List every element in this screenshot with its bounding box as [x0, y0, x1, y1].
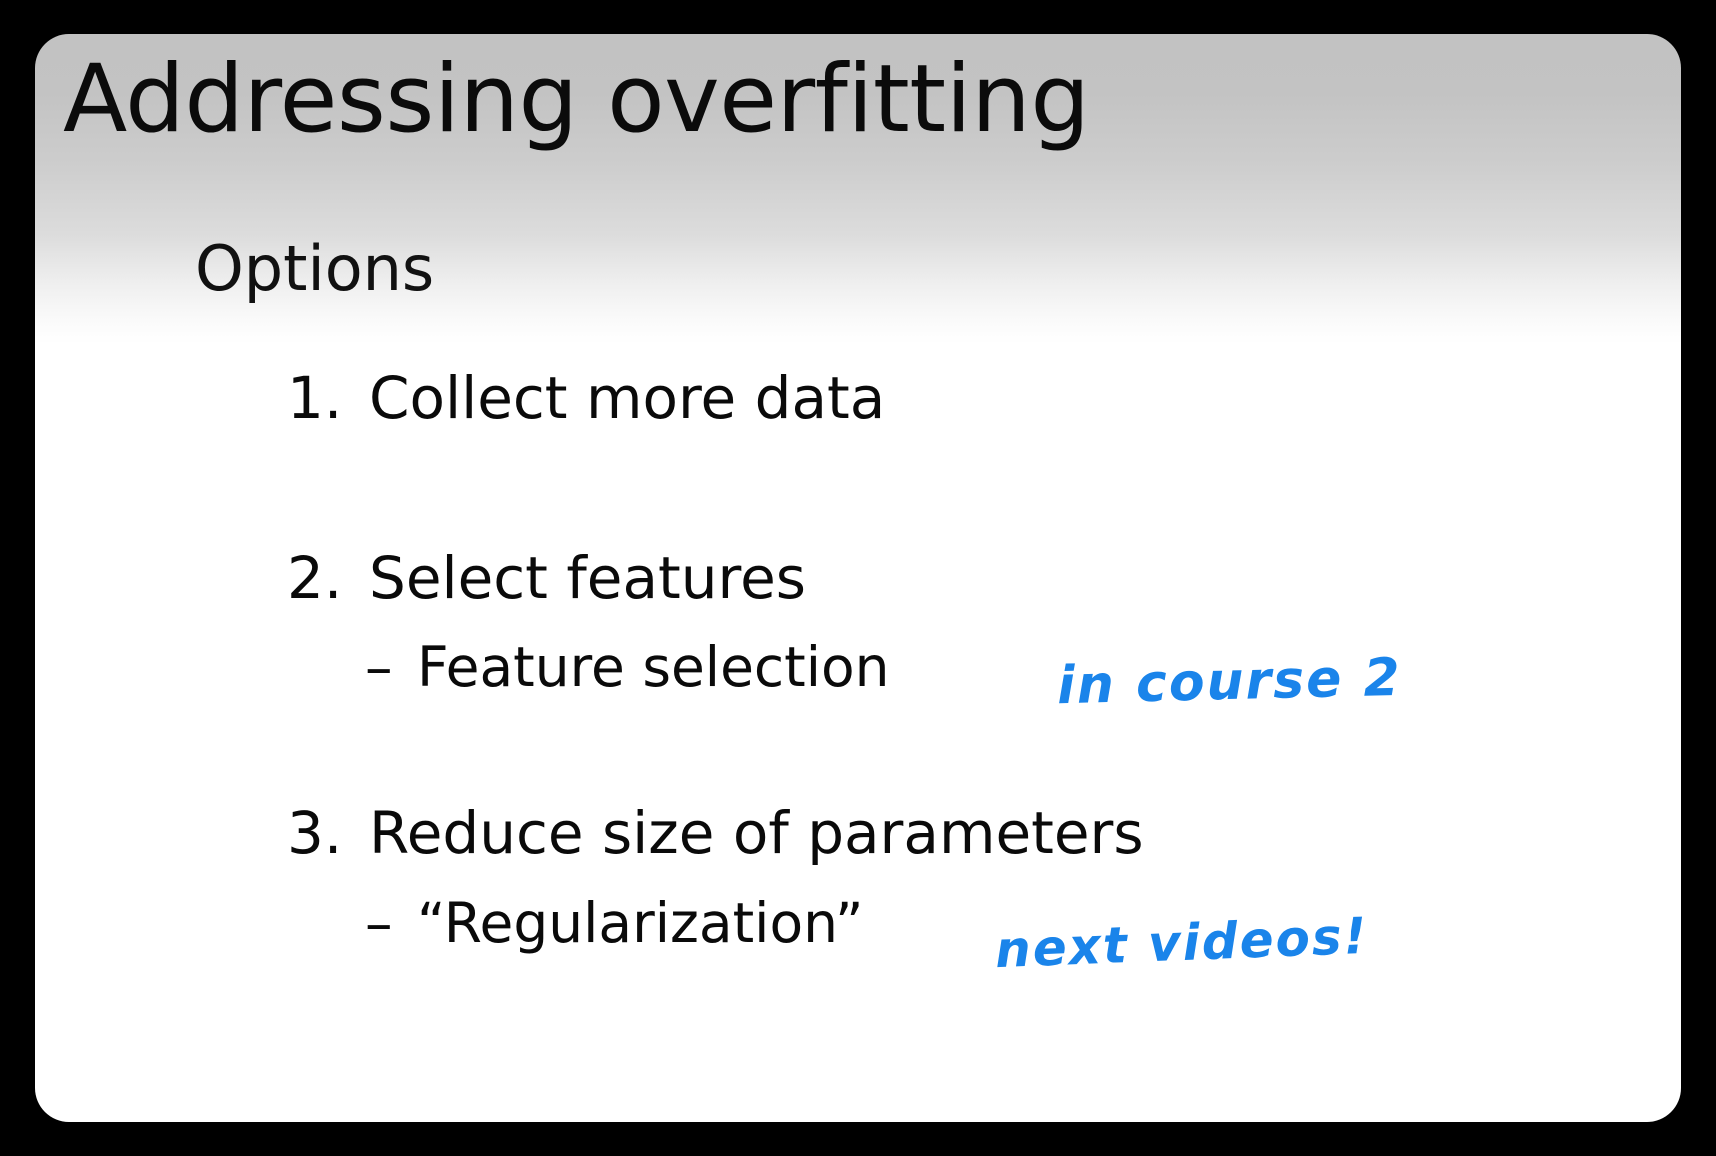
options-heading: Options — [195, 238, 434, 300]
list-item-3: 3.Reduce size of parameters — [287, 804, 1144, 862]
slide-body: Options 1.Collect more data 2.Select fea… — [35, 34, 1681, 1122]
list-item-3-label: Reduce size of parameters — [369, 799, 1144, 867]
list-item-1: 1.Collect more data — [287, 369, 885, 427]
list-item-2: 2.Select features — [287, 549, 806, 607]
list-item-1-label: Collect more data — [369, 364, 885, 432]
list-item-2-subitem-label: Feature selection — [417, 635, 890, 699]
list-item-3-subitem-dash: – — [365, 896, 417, 951]
list-item-3-subitem: –“Regularization” — [365, 896, 863, 951]
slide-backdrop: Addressing overfitting Options 1.Collect… — [0, 0, 1716, 1156]
list-item-2-subitem: –Feature selection — [365, 640, 890, 695]
list-item-3-subitem-label: “Regularization” — [417, 891, 863, 955]
annotation-in-course-2: in course 2 — [1056, 648, 1402, 716]
list-item-2-subitem-dash: – — [365, 640, 417, 695]
list-item-2-number: 2. — [287, 549, 369, 607]
list-item-2-label: Select features — [369, 544, 806, 612]
list-item-3-number: 3. — [287, 804, 369, 862]
annotation-next-videos: next videos! — [994, 907, 1369, 979]
presentation-slide: Addressing overfitting Options 1.Collect… — [35, 34, 1681, 1122]
list-item-1-number: 1. — [287, 369, 369, 427]
